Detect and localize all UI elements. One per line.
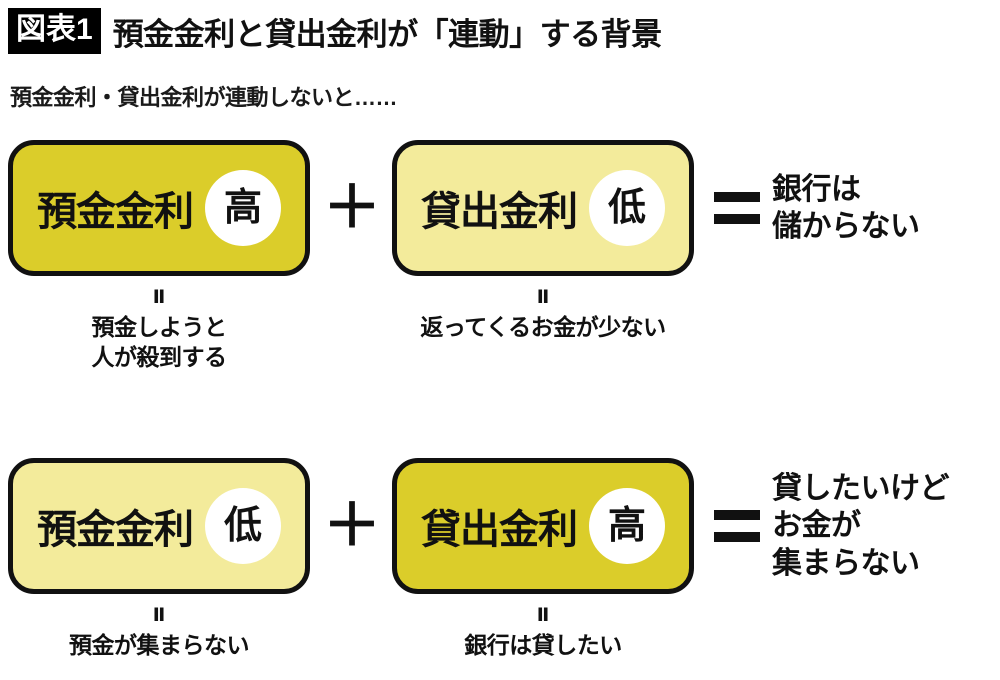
- rate-box-row2-deposit: 預金金利 低: [8, 458, 310, 594]
- level-bubble: 低: [589, 170, 665, 246]
- caption-line: 返ってくるお金が少ない: [392, 313, 694, 343]
- plus-operator-icon: ＋: [318, 458, 386, 594]
- rate-box-label: 預金金利: [37, 497, 193, 555]
- plus-operator-icon: ＋: [318, 140, 386, 276]
- equals-glyph: [714, 192, 760, 224]
- caption-row2-deposit: Ⅱ 預金が集まらない: [8, 606, 310, 661]
- rate-box-row1-lending: 貸出金利 低: [392, 140, 694, 276]
- result-line: お金が: [772, 508, 949, 543]
- result-line: 集まらない: [772, 546, 949, 581]
- double-bar-icon: Ⅱ: [8, 288, 310, 307]
- equals-operator-icon: [706, 458, 768, 594]
- caption-row1-deposit: Ⅱ 預金しようと 人が殺到する: [8, 288, 310, 373]
- result-line: 儲からない: [772, 209, 920, 244]
- level-bubble: 高: [589, 488, 665, 564]
- page-title: 預金金利と貸出金利が「連動」する背景: [113, 9, 662, 54]
- result-line: 銀行は: [772, 172, 920, 207]
- rate-box-row2-lending: 貸出金利 高: [392, 458, 694, 594]
- subtitle: 預金金利・貸出金利が連動しないと……: [10, 80, 397, 112]
- double-bar-icon: Ⅱ: [392, 288, 694, 307]
- level-bubble: 高: [205, 170, 281, 246]
- infographic-page: 図表1 預金金利と貸出金利が「連動」する背景 預金金利・貸出金利が連動しないと……: [0, 0, 1000, 680]
- level-bubble: 低: [205, 488, 281, 564]
- rate-box-label: 貸出金利: [421, 179, 577, 237]
- result-text-row2: 貸したいけど お金が 集まらない: [772, 458, 949, 594]
- level-bubble-text: 低: [608, 189, 646, 227]
- caption-line: 銀行は貸したい: [392, 631, 694, 661]
- caption-line: 預金が集まらない: [8, 631, 310, 661]
- rate-box-label: 貸出金利: [421, 497, 577, 555]
- equals-glyph: [714, 510, 760, 542]
- figure-number-badge: 図表1: [8, 8, 101, 54]
- rate-box-label: 預金金利: [37, 179, 193, 237]
- double-bar-icon: Ⅱ: [392, 606, 694, 625]
- rate-box-row1-deposit: 預金金利 高: [8, 140, 310, 276]
- caption-row2-lending: Ⅱ 銀行は貸したい: [392, 606, 694, 661]
- result-line: 貸したいけど: [772, 471, 949, 506]
- figure-header: 図表1 預金金利と貸出金利が「連動」する背景: [8, 6, 662, 56]
- double-bar-icon: Ⅱ: [8, 606, 310, 625]
- equals-operator-icon: [706, 140, 768, 276]
- level-bubble-text: 高: [608, 507, 646, 545]
- caption-line: 人が殺到する: [8, 343, 310, 373]
- caption-row1-lending: Ⅱ 返ってくるお金が少ない: [392, 288, 694, 343]
- result-text-row1: 銀行は 儲からない: [772, 140, 920, 276]
- level-bubble-text: 低: [224, 507, 262, 545]
- level-bubble-text: 高: [224, 189, 262, 227]
- caption-line: 預金しようと: [8, 313, 310, 343]
